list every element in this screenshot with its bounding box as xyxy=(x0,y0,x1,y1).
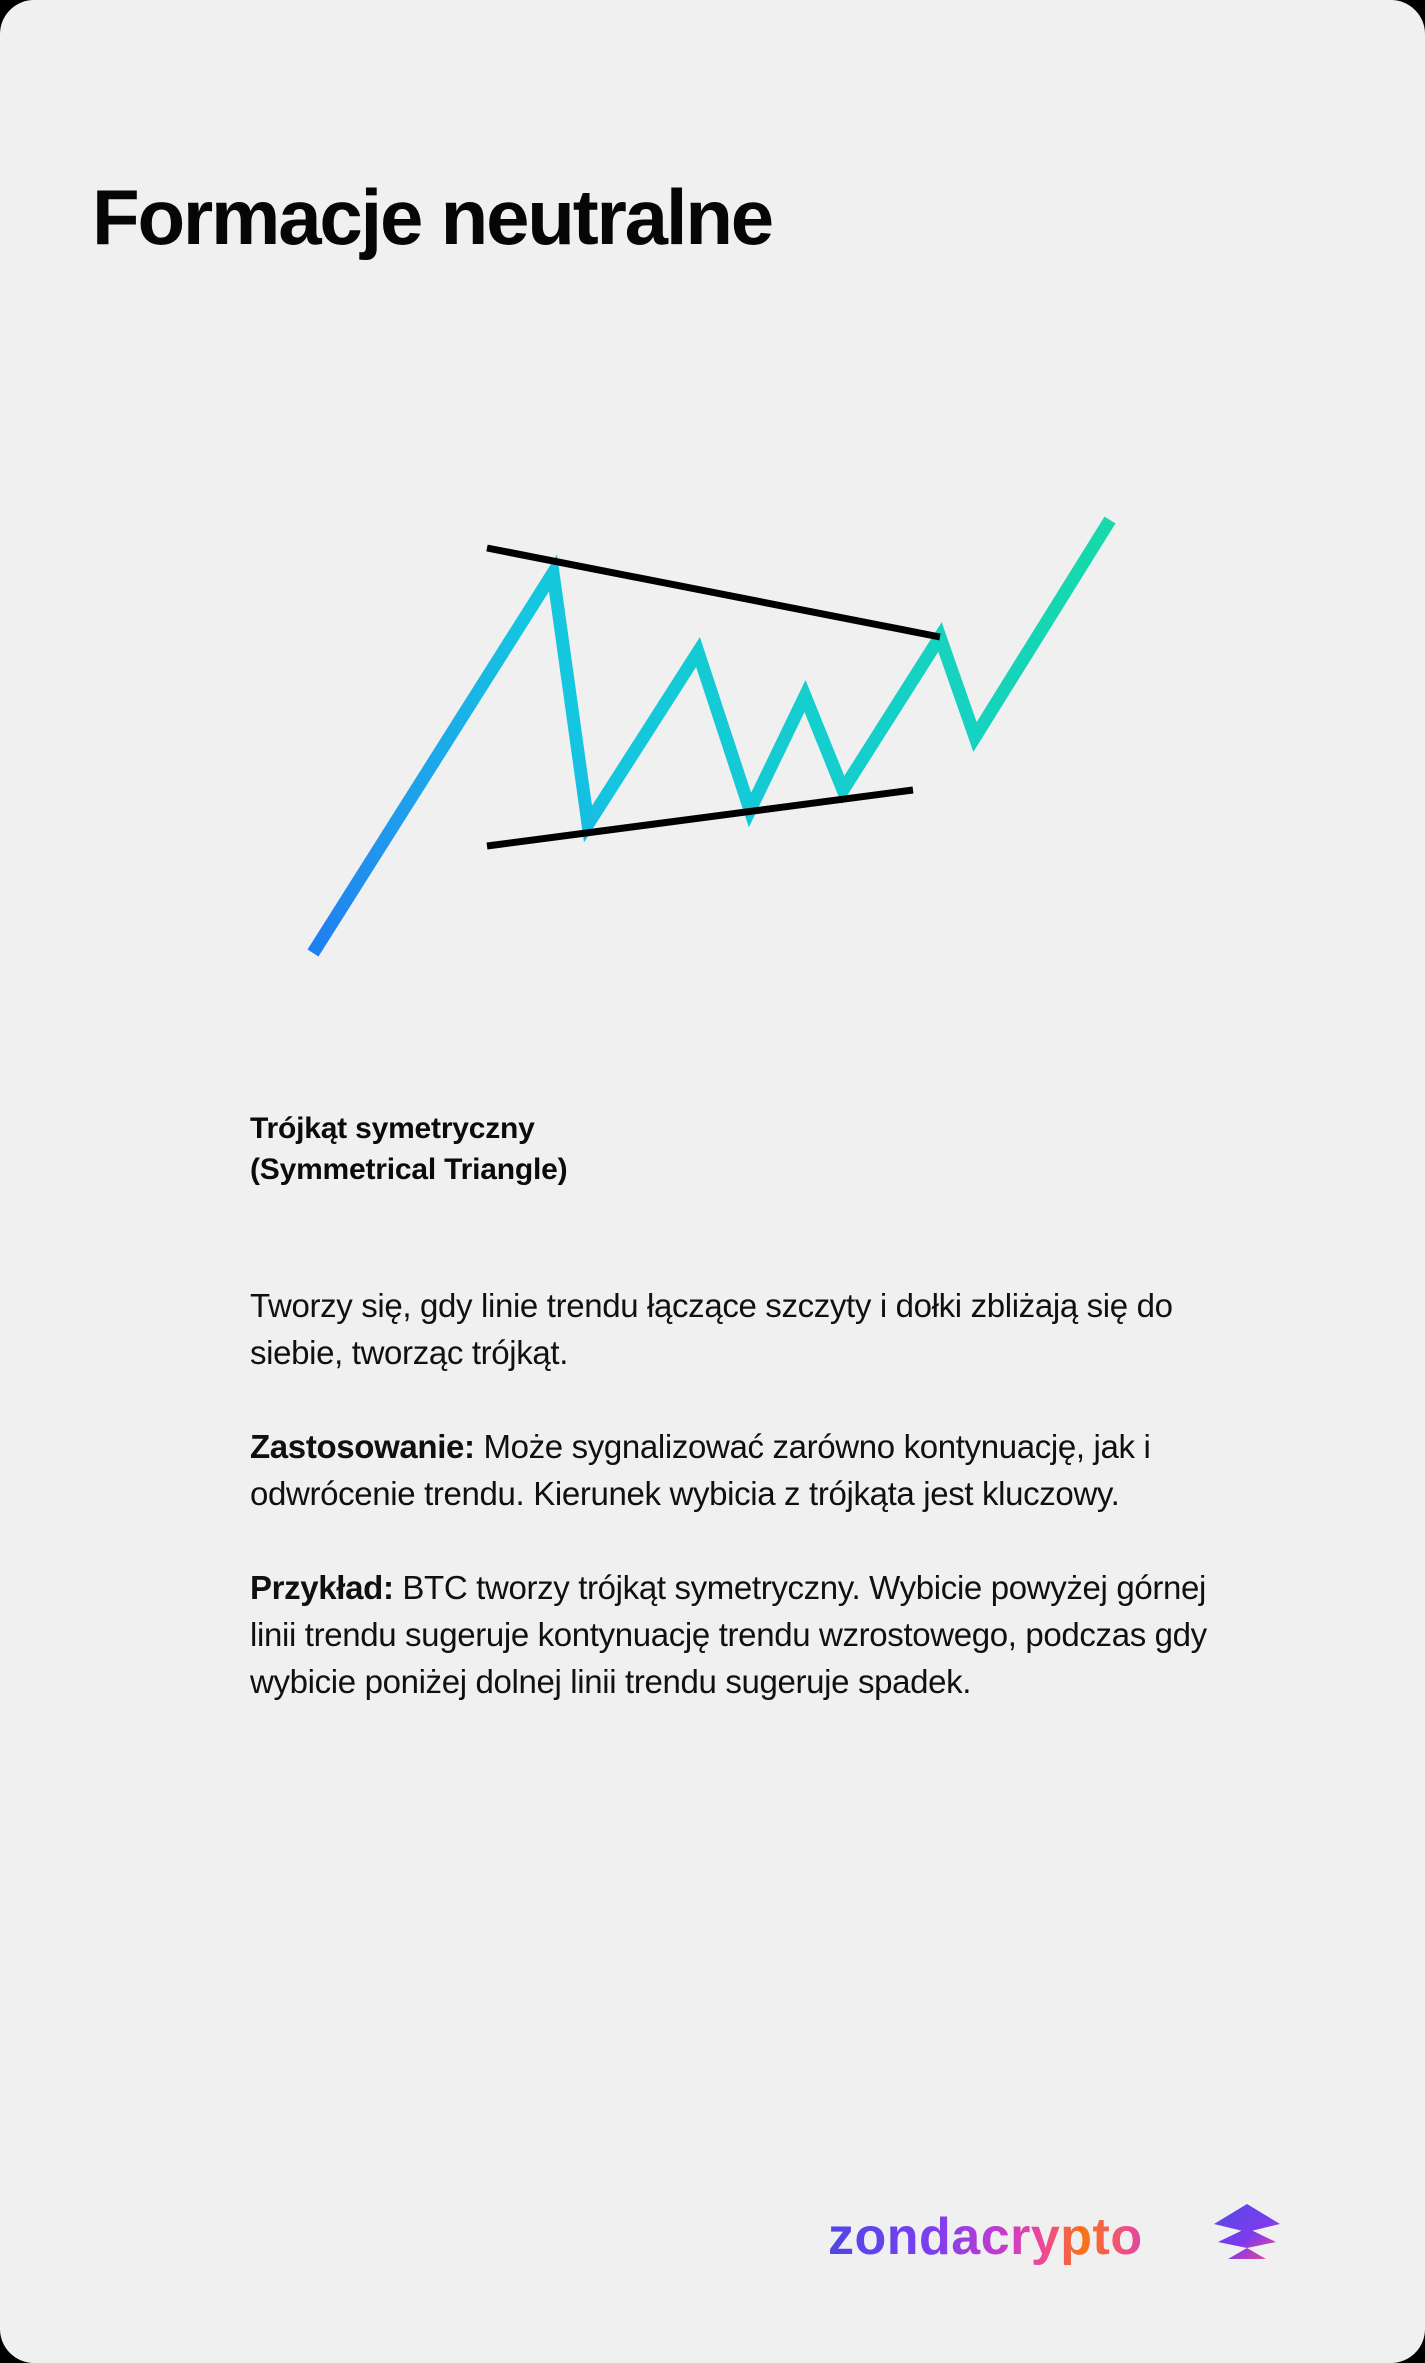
paragraph-usage: Zastosowanie: Może sygnalizować zarówno … xyxy=(250,1423,1260,1517)
zondacrypto-logo: zondacrypto xyxy=(828,2198,1303,2270)
logo-mark: zondacrypto xyxy=(828,2198,1303,2270)
page-title: Formacje neutralne xyxy=(92,174,772,260)
example-label: Przykład: xyxy=(250,1569,394,1606)
paragraph-definition: Tworzy się, gdy linie trendu łączące szc… xyxy=(250,1282,1260,1376)
figure-caption: Trójkąt symetryczny (Symmetrical Triangl… xyxy=(250,1108,1210,1190)
content-card: Formacje neutralne Trójkąt s xyxy=(0,0,1425,2363)
paragraph-example: Przykład: BTC tworzy trójkąt symetryczny… xyxy=(250,1564,1260,1705)
caption-line-en: (Symmetrical Triangle) xyxy=(250,1149,1210,1190)
caption-line-pl: Trójkąt symetryczny xyxy=(250,1108,1210,1149)
logo-wordmark: zondacrypto xyxy=(828,2208,1143,2266)
lower-trendline xyxy=(487,790,913,846)
example-text: BTC tworzy trójkąt symetryczny. Wybicie … xyxy=(250,1569,1207,1700)
logo-arrow-icon xyxy=(1214,2204,1280,2259)
poster-page: Formacje neutralne Trójkąt s xyxy=(0,0,1425,2363)
price-line xyxy=(313,520,1110,953)
usage-label: Zastosowanie: xyxy=(250,1428,475,1465)
body-copy: Tworzy się, gdy linie trendu łączące szc… xyxy=(250,1282,1260,1705)
chart-figure xyxy=(0,400,1425,1100)
symmetrical-triangle-chart xyxy=(0,400,1425,1100)
